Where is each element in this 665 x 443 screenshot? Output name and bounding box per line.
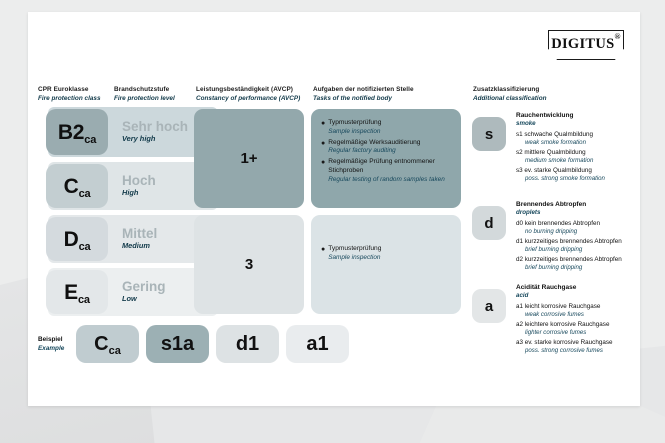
- avcp-value-3: 3: [245, 256, 253, 273]
- trademark-symbol: ®: [615, 32, 621, 41]
- bullet-icon: ●: [321, 245, 325, 255]
- column-header-level: Brandschutzstufe Fire protection level: [114, 86, 209, 103]
- column-header-tasks: Aufgaben der notifizierten Stelle Tasks …: [313, 86, 458, 103]
- bullet-icon: ●: [321, 139, 325, 149]
- additional-block-smoke: Rauchentwicklung smoke s1 schwache Qualm…: [516, 112, 656, 184]
- column-header-avcp: Leistungsbeständigkeit (AVCP) Constancy …: [196, 86, 326, 103]
- class-box-b2ca: B2ca: [46, 109, 108, 155]
- bullet-icon: ●: [321, 158, 325, 168]
- example-box-droplets: d1: [216, 325, 279, 363]
- avcp-value-1plus: 1+: [240, 150, 257, 167]
- task-item: ● Typmusterprüfung Sample inspection: [321, 245, 452, 263]
- logo-text: DIGITUS®: [551, 36, 621, 51]
- additional-block-acid: Acidität Rauchgase acid a1 leicht korros…: [516, 284, 656, 356]
- task-item: ● Regelmäßige Werksauditierung Regular f…: [321, 139, 452, 157]
- task-item: ● Typmusterprüfung Sample inspection: [321, 119, 452, 137]
- avcp-box-3: 3: [194, 215, 304, 314]
- class-box-cca: Cca: [46, 164, 108, 208]
- example-label: Beispiel Example: [38, 336, 64, 353]
- page-root: DIGITUS® CPR Euroklasse Fire protection …: [0, 0, 665, 443]
- class-label-cca: Cca: [64, 176, 91, 197]
- additional-block-droplets: Brennendes Abtropfen droplets d0 kein br…: [516, 201, 656, 273]
- avcp-box-1plus: 1+: [194, 109, 304, 208]
- logo-outline: DIGITUS®: [548, 30, 624, 60]
- example-box-class: Cca: [76, 325, 139, 363]
- bullet-icon: ●: [321, 119, 325, 129]
- column-header-additional: Zusatzklassifizierung Additional classif…: [473, 86, 618, 103]
- badge-droplets: d: [472, 206, 506, 240]
- infographic-card: DIGITUS® CPR Euroklasse Fire protection …: [28, 12, 640, 406]
- example-box-acid: a1: [286, 325, 349, 363]
- example-box-smoke: s1a: [146, 325, 209, 363]
- class-label-b2ca: B2ca: [58, 122, 96, 143]
- class-label-eca: Eca: [64, 282, 90, 303]
- class-label-dca: Dca: [64, 229, 91, 250]
- badge-smoke: s: [472, 117, 506, 151]
- class-box-eca: Eca: [46, 270, 108, 314]
- task-item: ● Regelmäßige Prüfung entnommener Stichp…: [321, 158, 452, 184]
- tasks-box-avcp1plus: ● Typmusterprüfung Sample inspection ● R…: [311, 109, 461, 208]
- brand-logo: DIGITUS®: [548, 30, 624, 60]
- example-value-class: Cca: [94, 333, 121, 356]
- badge-acid: a: [472, 289, 506, 323]
- tasks-box-avcp3: ● Typmusterprüfung Sample inspection: [311, 215, 461, 314]
- class-box-dca: Dca: [46, 217, 108, 261]
